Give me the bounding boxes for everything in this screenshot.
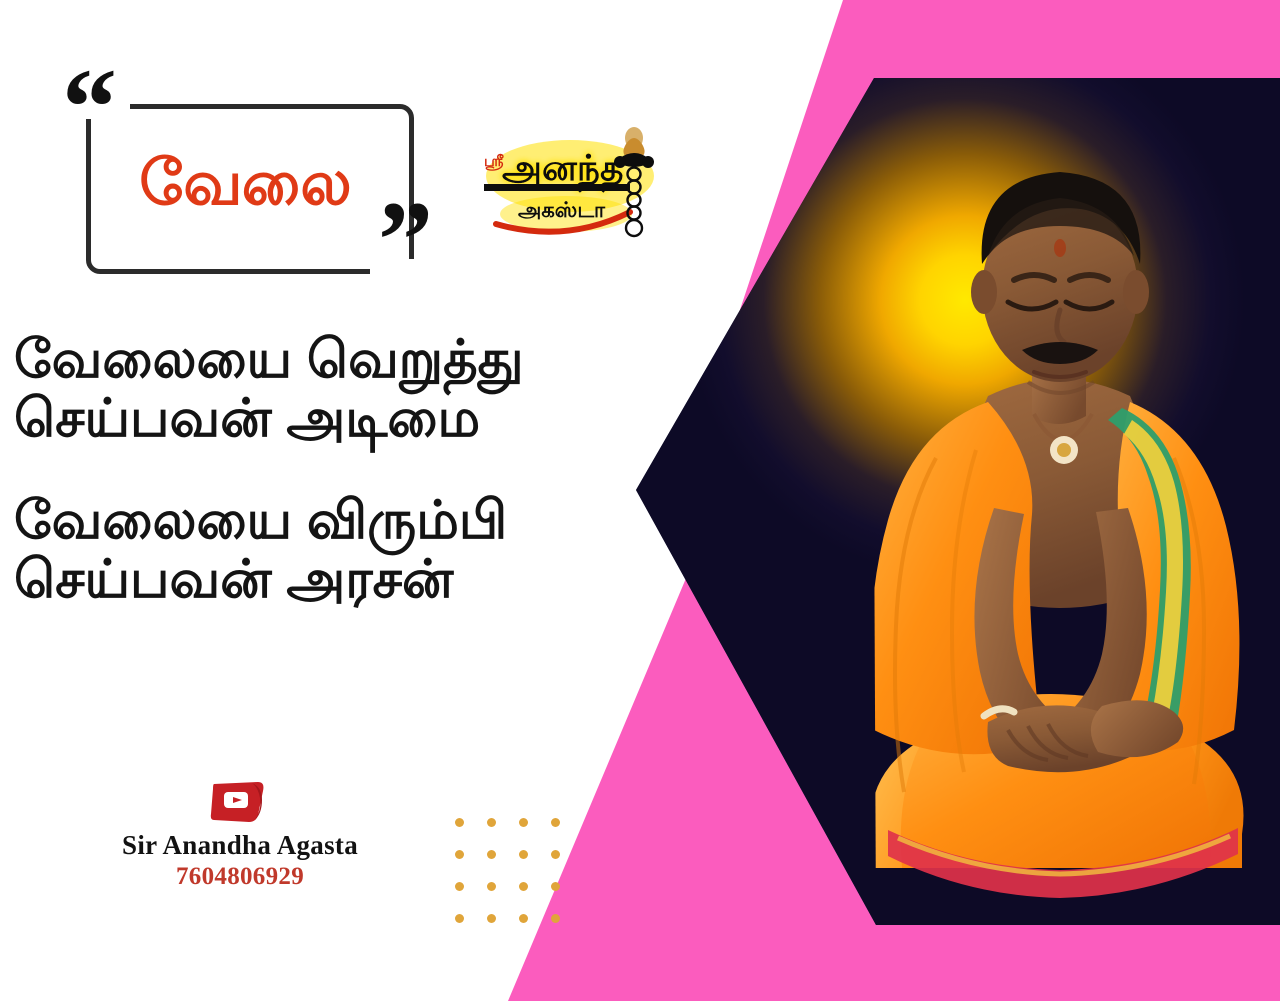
- close-quote-mark: ”: [378, 185, 433, 295]
- grid-dot: [519, 914, 528, 923]
- grid-dot: [487, 882, 496, 891]
- grid-dot: [551, 850, 560, 859]
- youtube-flag-play-icon[interactable]: [208, 778, 272, 822]
- grid-dot: [487, 818, 496, 827]
- contact-phone: 7604806929: [176, 863, 304, 891]
- quote-text-block: வேலையை வெறுத்து செய்பவன் அடிமை வேலையை வி…: [14, 330, 654, 609]
- grid-dot: [455, 914, 464, 923]
- quote-keyword: வேலை: [86, 104, 404, 264]
- footer-signature-block: Sir Anandha Agasta 7604806929: [0, 778, 480, 891]
- grid-dot: [519, 818, 528, 827]
- grid-dot: [519, 882, 528, 891]
- grid-dot: [551, 914, 560, 923]
- quote-line-3: வேலையை விரும்பி: [14, 491, 654, 550]
- grid-dot: [519, 850, 528, 859]
- logo-name-bottom: அகஸ்டா: [518, 199, 606, 222]
- quote-line-1: வேலையை வெறுத்து: [14, 330, 654, 389]
- author-name: Sir Anandha Agasta: [122, 830, 358, 861]
- grid-dot: [551, 882, 560, 891]
- quote-line-4: செய்பவன் அரசன்: [14, 550, 654, 609]
- poster-canvas: வேலை “ ” ஸ்ரீ அனந்த அகஸ்டா: [0, 0, 1280, 1001]
- open-quote-mark: “: [62, 52, 117, 162]
- grid-dot: [487, 850, 496, 859]
- grid-dot: [487, 914, 496, 923]
- logo-prefix-text: ஸ்ரீ: [484, 153, 504, 171]
- grid-dot: [551, 818, 560, 827]
- brand-logo: ஸ்ரீ அனந்த அகஸ்டா: [478, 118, 668, 248]
- quote-line-2: செய்பவன் அடிமை: [14, 389, 654, 448]
